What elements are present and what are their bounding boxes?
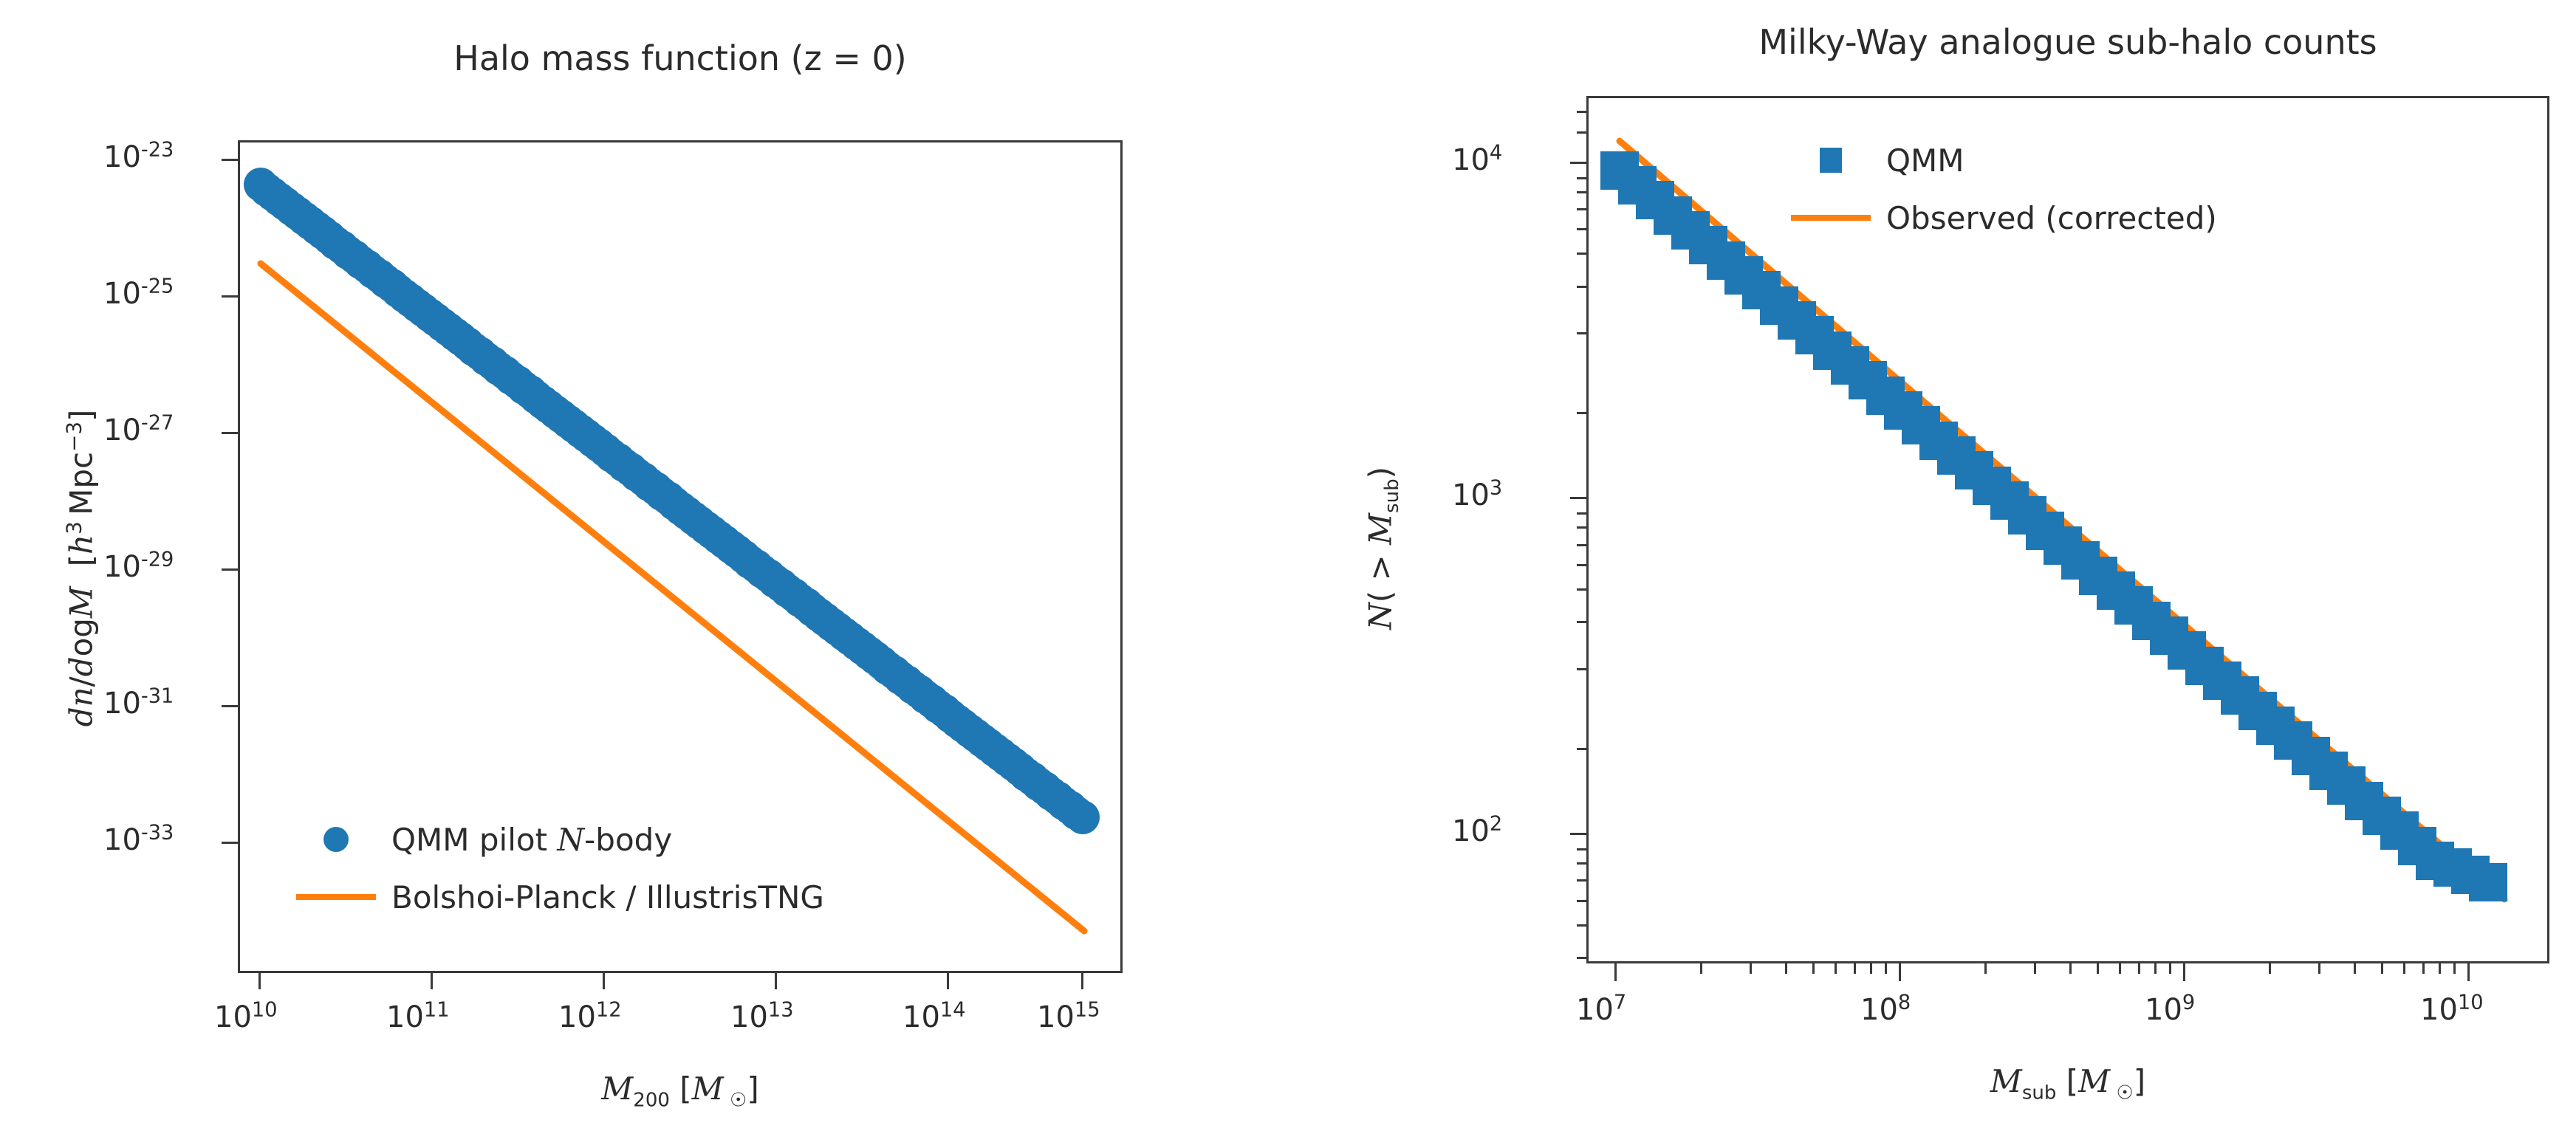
right-xtick-minor [1835,963,1837,974]
left-ytick-exp-3: -29 [141,549,174,571]
right-ytick-minor [1577,900,1586,902]
right-xtick-minor [1785,963,1787,974]
left-legend-row-1[interactable]: Bolshoi-Planck / IllustrisTNG [281,868,824,926]
left-xtick-exp-3: 13 [768,999,794,1022]
left-ytick-label-5: 10-33 [103,823,174,857]
left-yaxis-title: dn/dogM [h3 Mpc−3] [64,310,100,827]
left-ytick-label-0: 10-23 [103,140,174,174]
right-xtick-minor [1700,963,1702,974]
right-xtick-minor [2069,963,2072,974]
left-xtick-label-0: 1010 [214,1000,278,1034]
right-ytick-label-2: 102 [1452,814,1502,848]
left-xtick-exp-1: 11 [424,999,450,1022]
left-xtick-4 [947,973,949,989]
left-panel: Halo mass function (z = 0) [0,0,1288,1134]
right-xtick-exp-0: 7 [1614,992,1626,1014]
right-xtick-exp-2: 9 [2182,992,2195,1014]
left-xtick-5 [1081,973,1083,989]
right-ytick-minor [1577,131,1586,134]
right-xtick-exp-1: 8 [1898,992,1911,1014]
left-ytick-3 [222,568,238,571]
right-blue-squares [1600,151,2507,901]
left-blue-scatter [244,168,1100,834]
right-xtick-minor [2138,963,2140,974]
right-ytick-minor [1577,526,1586,529]
left-ytick-1 [222,295,238,298]
line-marker-icon [1775,215,1886,221]
left-xtick-exp-5: 15 [1075,999,1100,1022]
left-xtick-label-4: 1014 [902,1000,966,1034]
right-ytick-minor [1577,332,1586,334]
right-ytick-minor [1577,668,1586,670]
left-legend-label-0-italic: N [557,822,584,858]
right-xtick-minor [2439,963,2441,974]
left-xtick-3 [775,973,777,989]
left-ytick-label-4: 10-31 [103,687,174,721]
left-ytick-4 [222,705,238,707]
left-xtick-2 [603,973,605,989]
left-xaxis-title: M200 [M ☉] [238,1071,1123,1107]
left-ytick-label-3: 10-29 [103,550,174,584]
right-xtick-minor [1984,963,1987,974]
left-xtick-exp-0: 10 [252,999,278,1022]
right-ytick-minor [1577,512,1586,515]
left-xtick-label-3: 1013 [730,1000,794,1034]
left-legend-label-0-pre: QMM pilot [391,822,557,858]
left-xtick-exp-4: 14 [940,999,966,1022]
left-legend-label-1-pre: Bolshoi-Planck / IllustrisTNG [391,879,824,915]
right-ytick-minor [1577,286,1586,288]
right-xtick-minor [2354,963,2356,974]
right-ytick-minor [1577,862,1586,865]
right-ytick-minor [1577,924,1586,927]
right-ytick-minor [1577,191,1586,193]
right-xtick-minor [1885,963,1887,974]
left-legend-label-0: QMM pilot N-body [391,822,672,858]
right-ytick-minor [1577,748,1586,750]
right-xtick-minor [2403,963,2405,974]
right-ytick-minor [1577,177,1586,179]
right-ytick-minor [1577,588,1586,591]
left-xtick-exp-2: 12 [596,999,622,1022]
right-ytick-label-0: 104 [1452,143,1502,177]
left-ytick-label-1: 10-25 [103,277,174,311]
left-xtick-label-1: 1011 [386,1000,450,1034]
left-legend-label-1: Bolshoi-Planck / IllustrisTNG [391,879,824,915]
right-panel-title: Milky-Way analogue sub-halo counts [1586,22,2549,62]
right-ytick-minor [1577,544,1586,546]
circle-marker-icon [281,827,391,852]
right-xtick-exp-3: 10 [2458,992,2484,1014]
right-legend-label-0-pre: QMM [1886,142,1964,179]
right-xtick-minor [2269,963,2271,974]
right-yaxis-title: N( > Msub) [1363,342,1399,755]
right-legend-row-0[interactable]: QMM [1775,131,2217,189]
right-ytick-minor [1577,848,1586,850]
right-xtick-label-0: 107 [1576,993,1626,1027]
right-xtick-minor [1870,963,1872,974]
right-legend-row-1[interactable]: Observed (corrected) [1775,189,2217,247]
right-ytick-exp-0: 4 [1490,142,1502,165]
right-xtick-minor [2422,963,2425,974]
right-xtick-major-1 [1899,963,1901,981]
right-xtick-minor [2453,963,2456,974]
right-ytick-major-0 [1570,162,1586,164]
left-ytick-exp-1: -25 [141,275,174,298]
left-ytick-5 [222,842,238,844]
right-ytick-exp-1: 3 [1490,477,1502,500]
left-ytick-0 [222,159,238,161]
left-xtick-1 [431,973,433,989]
right-xtick-major-2 [2183,963,2185,981]
right-xaxis-title: Msub [M ☉] [1586,1063,2549,1099]
left-ytick-exp-4: -31 [141,685,174,708]
right-legend: QMM Observed (corrected) [1775,131,2217,247]
right-xtick-minor [2097,963,2099,974]
right-ytick-minor [1577,621,1586,623]
left-legend-row-0[interactable]: QMM pilot N-body [281,811,824,868]
figure-canvas: Halo mass function (z = 0) [0,0,2576,1134]
right-xtick-major-3 [2467,963,2470,981]
left-legend-label-0-post: -body [584,822,672,858]
right-xtick-minor [2169,963,2171,974]
left-ytick-2 [222,432,238,434]
right-panel: Milky-Way analogue sub-halo counts [1288,0,2576,1134]
right-xtick-label-2: 109 [2145,993,2195,1027]
left-ytick-exp-0: -23 [141,139,174,162]
right-ytick-exp-2: 2 [1490,813,1502,836]
left-panel-title: Halo mass function (z = 0) [238,38,1123,78]
right-ytick-minor [1577,228,1586,230]
right-xtick-minor [1854,963,1856,974]
left-xtick-0 [258,973,261,989]
right-ytick-minor [1577,111,1586,113]
right-ytick-minor [1577,957,1586,959]
right-ytick-minor [1577,412,1586,414]
right-xtick-minor [1750,963,1752,974]
right-legend-label-0: QMM [1886,142,1964,179]
right-xtick-minor [2119,963,2121,974]
right-ytick-label-1: 103 [1452,478,1502,512]
right-ytick-major-1 [1570,497,1586,499]
right-xtick-label-1: 108 [1860,993,1911,1027]
left-legend: QMM pilot N-body Bolshoi-Planck / Illust… [281,811,824,926]
left-ytick-exp-5: -33 [141,822,174,845]
right-legend-label-1: Observed (corrected) [1886,200,2217,236]
square-marker-icon [1775,148,1886,173]
left-ytick-exp-2: -27 [141,412,174,435]
right-ytick-minor [1577,564,1586,566]
right-ytick-minor [1577,208,1586,210]
right-xtick-major-0 [1614,963,1617,981]
line-marker-icon [281,894,391,900]
right-xtick-minor [2318,963,2320,974]
right-xtick-minor [1812,963,1815,974]
right-xtick-minor [2381,963,2383,974]
right-xtick-minor [2034,963,2036,974]
left-ytick-label-2: 10-27 [103,413,174,447]
right-ytick-minor [1577,252,1586,255]
left-xtick-label-5: 1015 [1037,1000,1100,1034]
right-ytick-minor [1577,879,1586,882]
right-legend-label-1-pre: Observed (corrected) [1886,200,2217,236]
right-xtick-label-3: 1010 [2420,993,2484,1027]
right-ytick-major-2 [1570,833,1586,835]
right-xtick-minor [2154,963,2157,974]
left-xtick-label-2: 1012 [558,1000,622,1034]
